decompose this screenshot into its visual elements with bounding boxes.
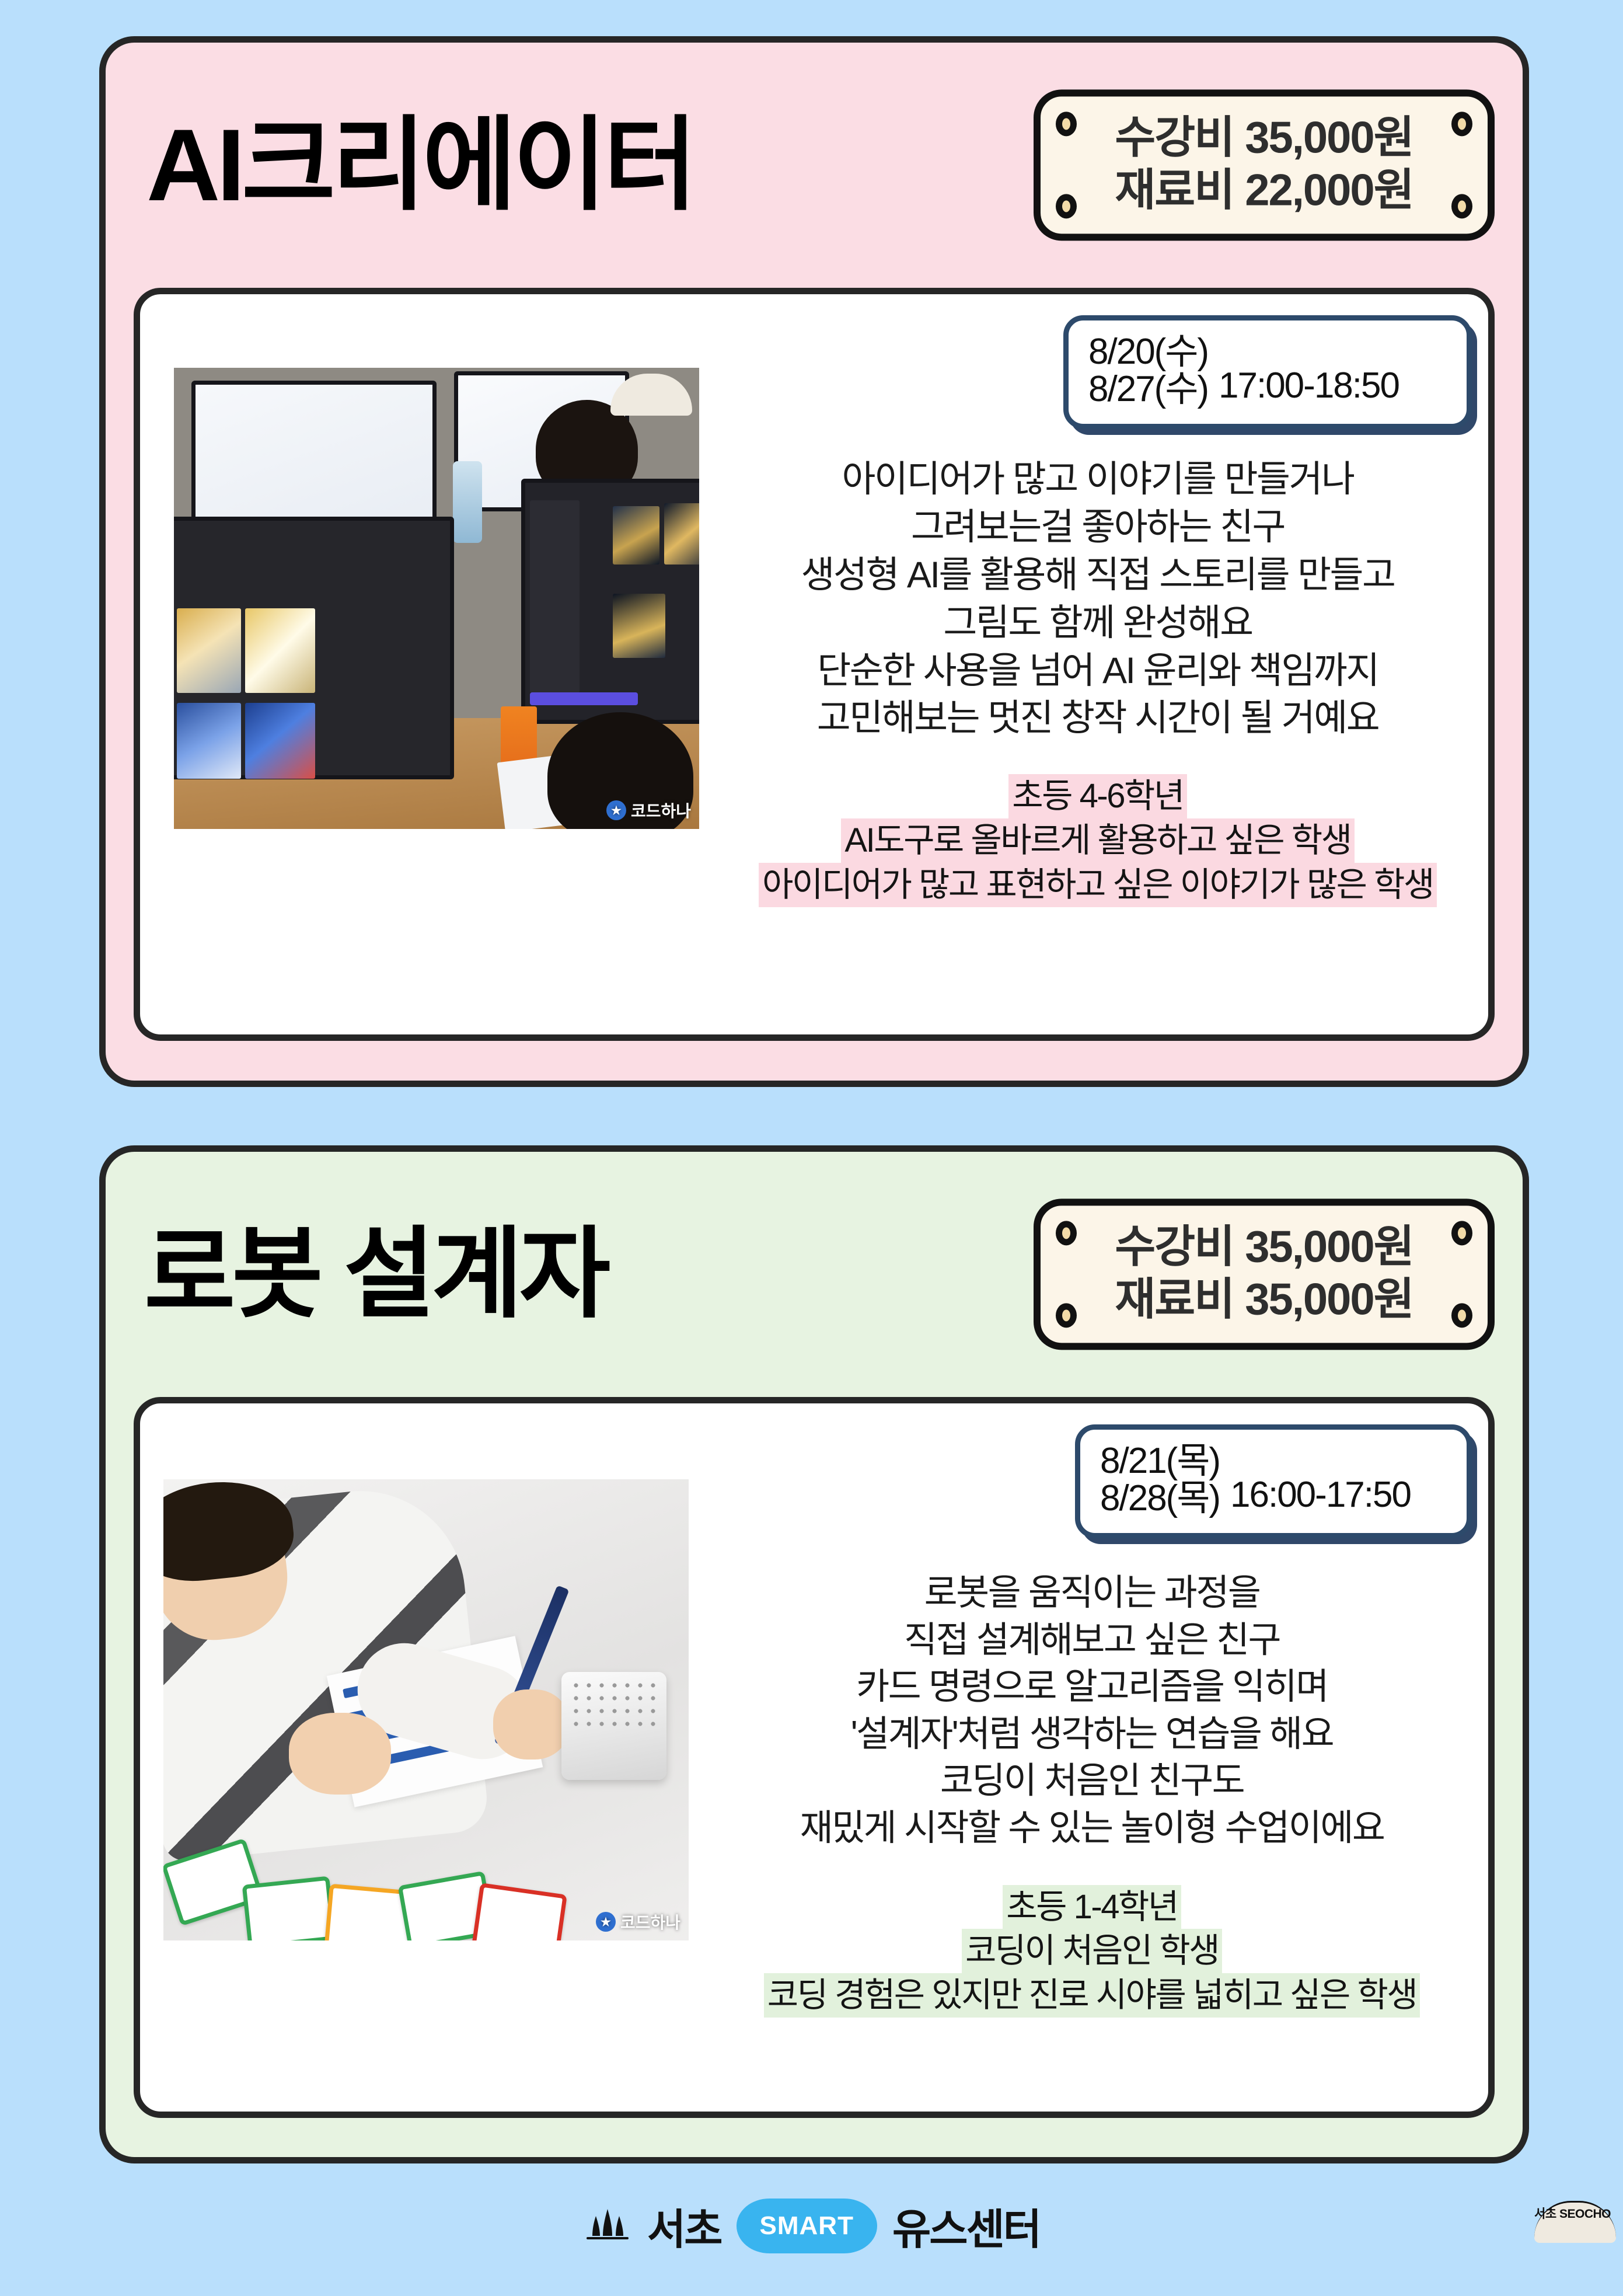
target-line: 초등 4-6학년 — [1008, 774, 1186, 818]
codehana-logo-icon: ★ — [596, 1912, 616, 1932]
watermark-label: 코드하나 — [620, 1910, 680, 1933]
course-description: 아이디어가 많고 이야기를 만들거나 그려보는걸 좋아하는 친구 생성형 AI를… — [724, 456, 1472, 743]
command-card — [472, 1883, 567, 1940]
card-body: ★ 코드하나 8/21(목) 8/28(목) 16:00-17:50 로봇을 움… — [134, 1397, 1495, 2118]
photo-watermark: ★ 코드하나 — [606, 799, 691, 822]
monitor-screen — [525, 483, 699, 720]
description-line: 고민해보는 멋진 창작 시간이 될 거예요 — [724, 695, 1472, 743]
ai-image-character-1 — [177, 703, 241, 779]
footer-word-left: 서초 — [647, 2195, 721, 2256]
schedule-date-1: 8/20(수) — [1088, 333, 1208, 371]
badge-dot-top-right — [1451, 1221, 1472, 1245]
price-badge: 수강비 35,000원 재료비 22,000원 — [1034, 89, 1495, 241]
schedule-bubble: 8/21(목) 8/28(목) 16:00-17:50 — [1075, 1424, 1472, 1538]
description-line: 로봇을 움직이는 과정을 — [712, 1570, 1472, 1617]
photo-scene — [174, 368, 699, 829]
schedule-dates: 8/21(목) 8/28(목) — [1100, 1443, 1220, 1518]
course-card-ai-creator: AI크리에이터 수강비 35,000원 재료비 22,000원 — [99, 36, 1529, 1087]
badge-dot-bottom-right — [1451, 1304, 1472, 1328]
description-line: 생성형 AI를 활용해 직접 스토리를 만들고 — [724, 552, 1472, 600]
target-line: 코딩이 처음인 학생 — [962, 1929, 1222, 1973]
photo-watermark: ★ 코드하나 — [596, 1910, 680, 1933]
codehana-logo-icon: ★ — [606, 800, 626, 820]
description-line: 그림도 함께 완성해요 — [724, 600, 1472, 647]
badge-dot-top-left — [1056, 1221, 1077, 1245]
target-line: 코딩 경험은 있지만 진로 시야를 넓히고 싶은 학생 — [764, 1973, 1420, 2018]
monitor-front-left — [174, 517, 454, 779]
description-line: 직접 설계해보고 싶은 친구 — [712, 1617, 1472, 1664]
target-line: 아이디어가 많고 표현하고 싶은 이야기가 많은 학생 — [759, 863, 1437, 907]
generate-button — [530, 692, 638, 705]
tuition-fee: 수강비 35,000원 — [1073, 112, 1455, 164]
badge-dot-bottom-right — [1451, 194, 1472, 219]
ai-image-dragon-1 — [177, 608, 241, 693]
description-line: 재밌게 시작할 수 있는 놀이형 수업이에요 — [712, 1805, 1472, 1852]
robot-grid-icon — [570, 1679, 658, 1729]
schedule-time: 17:00-18:50 — [1219, 365, 1399, 409]
description-line: 그려보는걸 좋아하는 친구 — [724, 504, 1472, 552]
student-hand-right — [493, 1689, 569, 1760]
material-fee: 재료비 22,000원 — [1073, 164, 1455, 217]
schedule-time: 16:00-17:50 — [1230, 1474, 1411, 1518]
course-card-robot-designer: 로봇 설계자 수강비 35,000원 재료비 35,000원 — [99, 1145, 1529, 2163]
schedule-date-2: 8/28(목) — [1100, 1480, 1220, 1517]
price-badge: 수강비 35,000원 재료비 35,000원 — [1034, 1198, 1495, 1350]
schedule-date-1: 8/21(목) — [1100, 1443, 1220, 1480]
watermark-label: 코드하나 — [631, 799, 691, 822]
course-photo-robot: ★ 코드하나 — [163, 1479, 689, 1940]
badge-dot-top-right — [1451, 112, 1472, 136]
photo-scene — [163, 1479, 689, 1940]
schedule-bubble: 8/20(수) 8/27(수) 17:00-18:50 — [1063, 315, 1472, 429]
coding-robot — [561, 1672, 666, 1780]
command-card-pile — [163, 1821, 578, 1940]
description-line: 아이디어가 많고 이야기를 만들거나 — [724, 456, 1472, 504]
page-title: AI크리에이터 — [146, 114, 694, 217]
ai-image-dragon-2 — [245, 608, 315, 693]
student-hand-left — [289, 1713, 391, 1795]
tool-panel — [530, 500, 580, 693]
target-line: AI도구로 올바르게 활용하고 싶은 학생 — [841, 818, 1354, 863]
poster-root: AI크리에이터 수강비 35,000원 재료비 22,000원 — [0, 0, 1623, 2296]
seocho-emblem: 서초 SEOCHO — [583, 2207, 632, 2245]
badge-dot-top-left — [1056, 112, 1077, 136]
target-line: 초등 1-4학년 — [1003, 1885, 1181, 1929]
tuition-fee: 수강비 35,000원 — [1073, 1221, 1455, 1273]
seocho-mountain-icon — [583, 2207, 632, 2245]
schedule-dates: 8/20(수) 8/27(수) — [1088, 333, 1208, 409]
seocho-caption: 서초 SEOCHO — [1534, 2201, 1616, 2243]
smart-badge: SMART — [737, 2199, 877, 2253]
description-line: 카드 명령으로 알고리즘을 익히며 — [712, 1664, 1472, 1711]
monitor-screen — [174, 521, 450, 775]
monitor-front-right — [521, 479, 699, 724]
description-line: 코딩이 처음인 친구도 — [712, 1758, 1472, 1805]
target-audience: 초등 4-6학년 AI도구로 올바르게 활용하고 싶은 학생 아이디어가 많고 … — [724, 774, 1472, 907]
footer-word-right: 유스센터 — [892, 2195, 1040, 2256]
ai-image-telescope-1 — [613, 506, 659, 565]
card-body: ★ 코드하나 8/20(수) 8/27(수) 17:00-18:50 아이디어가… — [134, 288, 1495, 1041]
target-audience: 초등 1-4학년 코딩이 처음인 학생 코딩 경험은 있지만 진로 시야를 넓히… — [712, 1885, 1472, 2018]
command-card — [242, 1876, 336, 1940]
course-description: 로봇을 움직이는 과정을 직접 설계해보고 싶은 친구 카드 명령으로 알고리즘… — [712, 1570, 1472, 1852]
course-photo-ai: ★ 코드하나 — [174, 368, 699, 829]
water-bottle — [453, 461, 482, 543]
material-fee: 재료비 35,000원 — [1073, 1273, 1455, 1326]
card-header: AI크리에이터 수강비 35,000원 재료비 22,000원 — [106, 43, 1523, 288]
footer-logo: 서초 SEOCHO 서초 SMART 유스센터 — [0, 2195, 1623, 2256]
description-line: 단순한 사용을 넘어 AI 윤리와 책임까지 — [724, 647, 1472, 695]
course-info-column: 8/21(목) 8/28(목) 16:00-17:50 로봇을 움직이는 과정을… — [712, 1424, 1472, 2100]
ai-image-character-2 — [245, 703, 315, 779]
ai-image-telescope-3 — [613, 594, 665, 658]
description-line: '설계자'처럼 생각하는 연습을 해요 — [712, 1711, 1472, 1758]
page-title: 로봇 설계자 — [144, 1225, 607, 1324]
course-info-column: 8/20(수) 8/27(수) 17:00-18:50 아이디어가 많고 이야기… — [724, 315, 1472, 1023]
card-header: 로봇 설계자 수강비 35,000원 재료비 35,000원 — [106, 1152, 1523, 1397]
schedule-date-2: 8/27(수) — [1088, 371, 1208, 408]
ai-image-telescope-2 — [664, 503, 699, 565]
